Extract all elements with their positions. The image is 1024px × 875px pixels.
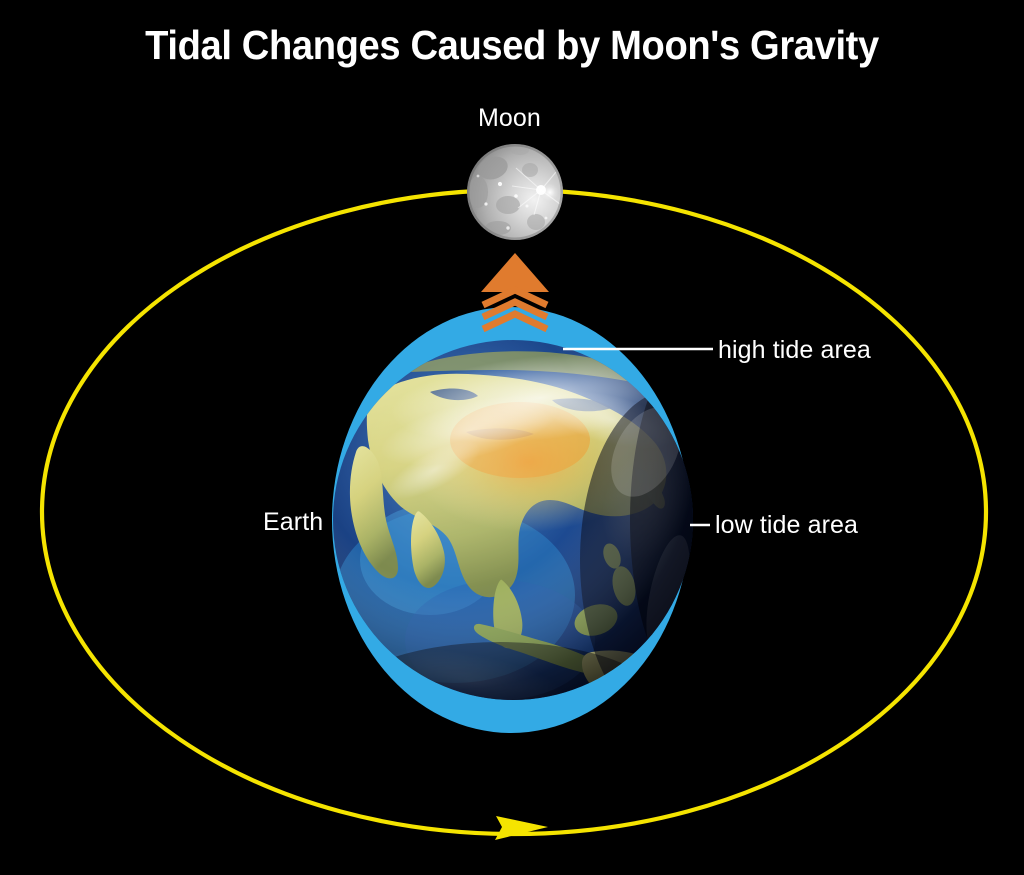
moon-body — [463, 144, 563, 240]
diagram-canvas: Tidal Changes Caused by Moon's Gravity — [0, 0, 1024, 875]
orbit-direction-arrow-icon — [495, 816, 548, 840]
moon-label: Moon — [478, 104, 541, 133]
earth-label: Earth — [263, 508, 323, 537]
high-tide-area-label: high tide area — [718, 336, 871, 365]
low-tide-area-label: low tide area — [715, 511, 858, 540]
